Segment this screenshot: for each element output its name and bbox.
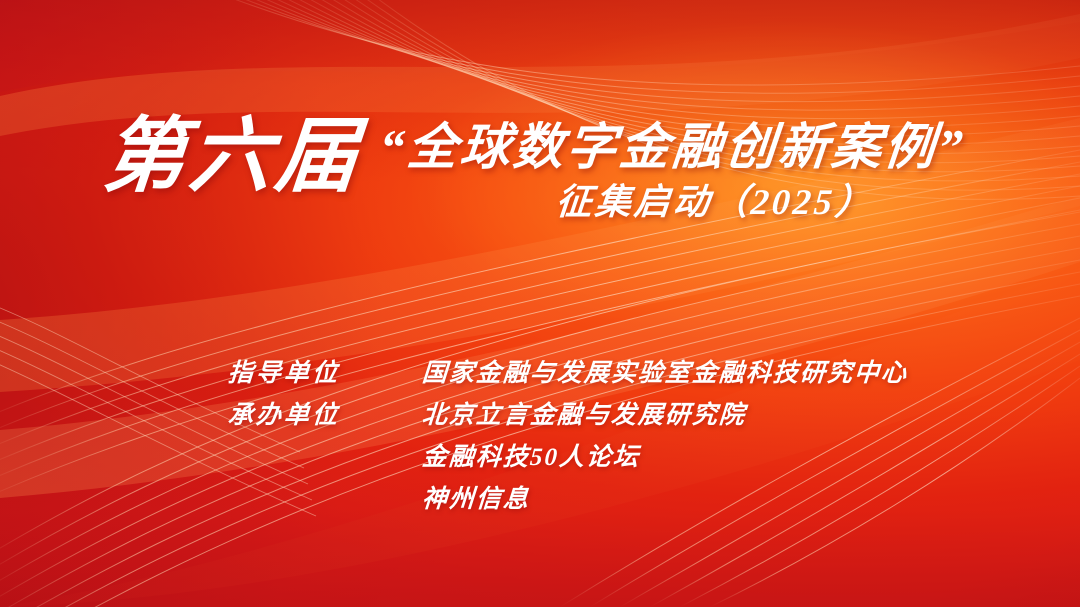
organizations-block: 指导单位 国家金融与发展实验室金融科技研究中心 承办单位 北京立言金融与发展研究…: [228, 358, 908, 516]
page-subtitle: 征集启动（2025）: [554, 184, 875, 220]
page-title-quoted: “全球数字金融创新案例”: [377, 108, 969, 172]
org-value-host: 北京立言金融与发展研究院: [421, 400, 909, 432]
poster-canvas: 第六届 “全球数字金融创新案例” 征集启动（2025） 指导单位 国家金融与发展…: [0, 0, 1080, 607]
poster-content: 第六届 “全球数字金融创新案例” 征集启动（2025） 指导单位 国家金融与发展…: [0, 0, 1080, 607]
org-value-host-3: 神州信息: [421, 484, 909, 516]
org-label-host: 承办单位: [227, 400, 423, 432]
org-value-host-2: 金融科技50人论坛: [421, 442, 909, 474]
page-title-edition: 第六届: [100, 108, 366, 198]
org-value-guidance: 国家金融与发展实验室金融科技研究中心: [421, 358, 909, 390]
org-label-guidance: 指导单位: [227, 358, 423, 390]
